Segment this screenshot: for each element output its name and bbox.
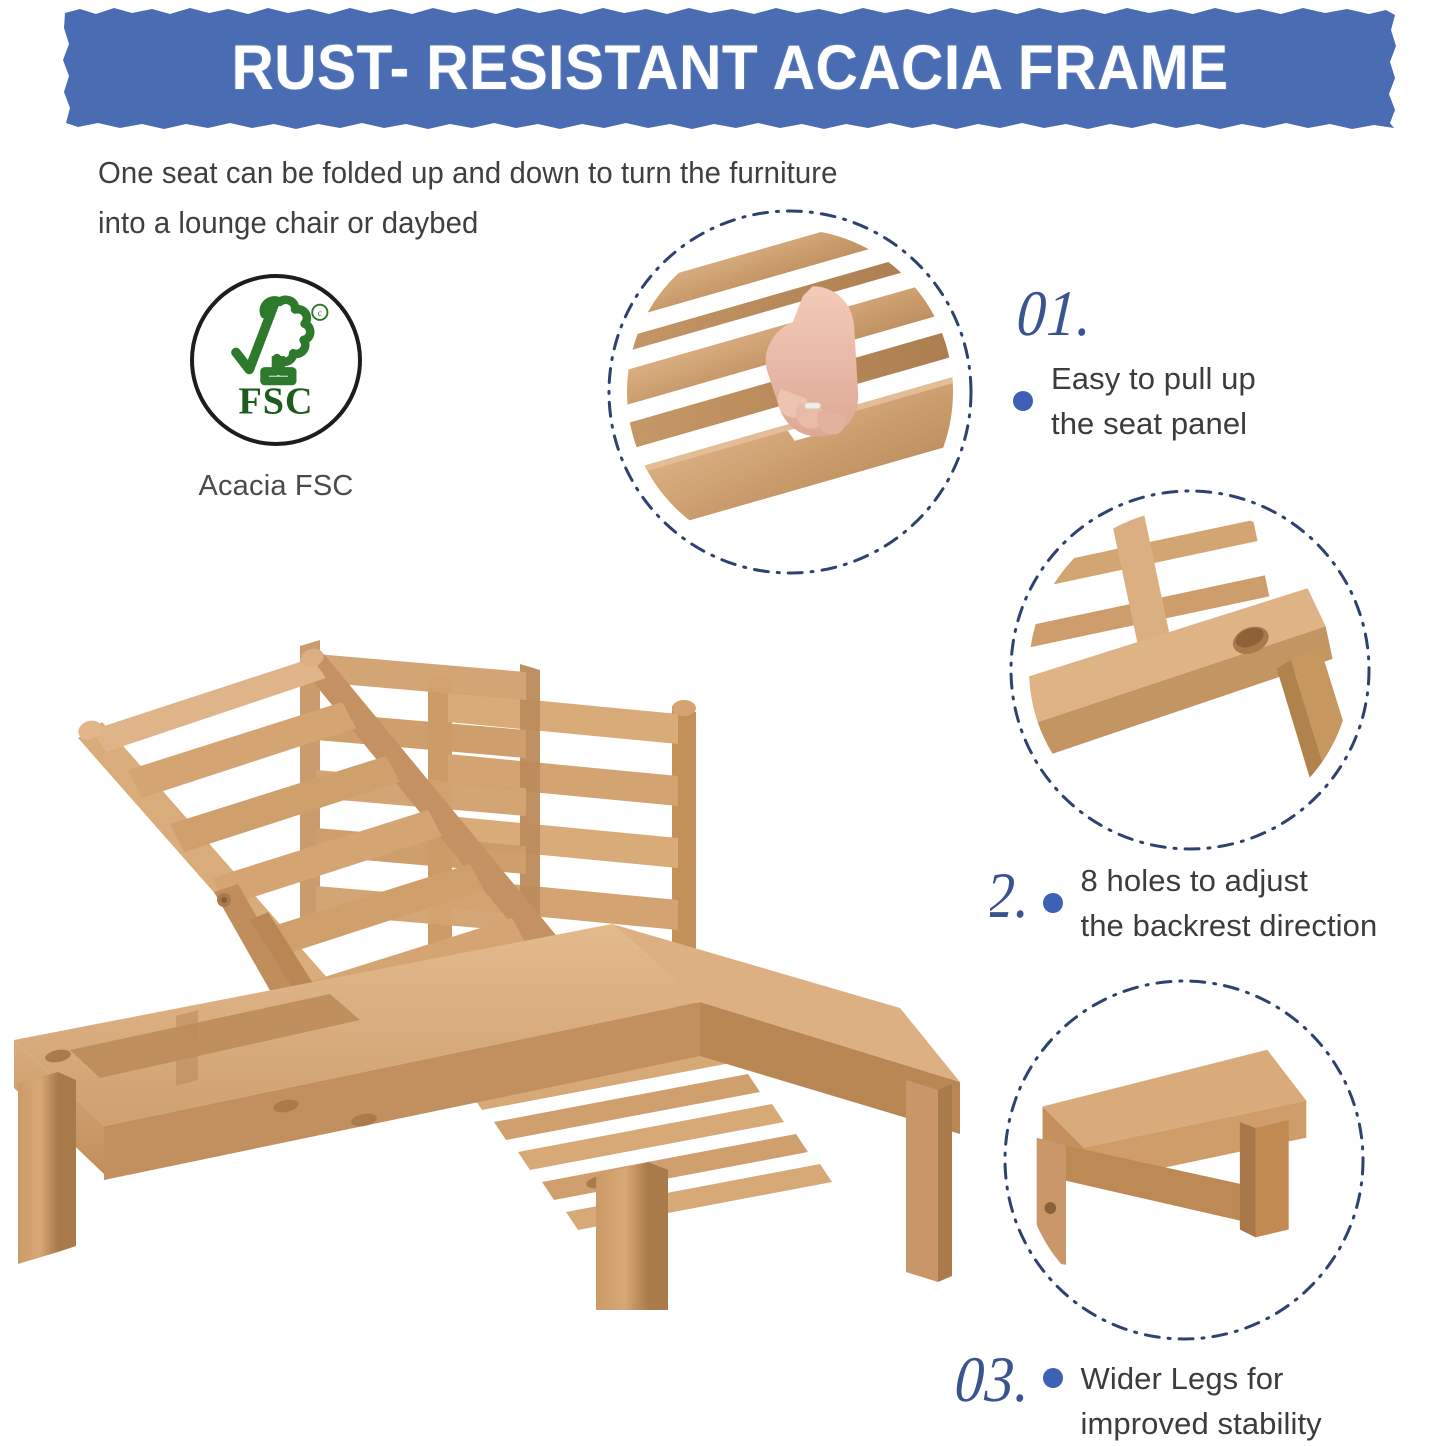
callout-1-line-2: the seat panel: [1051, 401, 1256, 446]
detail-photo-adjustment-hole: [1006, 486, 1374, 854]
bullet-dot-icon: [1043, 893, 1063, 913]
callout-1-line-1: Easy to pull up: [1051, 356, 1256, 401]
detail-photo-hand-pulling-seat-panel: [604, 206, 976, 578]
fsc-certification-badge: c FSC Acacia FSC: [166, 274, 386, 503]
bullet-dot-icon: [1043, 1368, 1063, 1388]
bullet-dot-icon: [1013, 391, 1033, 411]
fsc-tree-checkmark-icon: c FSC: [194, 278, 358, 442]
acacia-daybed-illustration: [0, 610, 990, 1310]
wide-leg-illustration: [1023, 999, 1345, 1321]
callout-2-line-2: the backrest direction: [1081, 903, 1378, 948]
fsc-logo-circle: c FSC: [190, 274, 362, 446]
product-photo-daybed: [0, 610, 990, 1310]
callout-3-line-1: Wider Legs for: [1081, 1356, 1322, 1401]
detail-photo-wide-leg: [1000, 976, 1368, 1344]
callout-2: 02. 8 holes to adjust the backrest direc…: [953, 858, 1377, 948]
slats-with-hand-illustration: [627, 229, 953, 555]
callout-2-text: 8 holes to adjust the backrest direction: [1081, 858, 1378, 948]
callout-1-number: 01.: [1015, 281, 1260, 346]
fsc-caption: Acacia FSC: [166, 470, 386, 503]
callout-1-text: Easy to pull up the seat panel: [1051, 356, 1256, 446]
photo-inner-3: [1023, 999, 1345, 1321]
callout-2-body: 8 holes to adjust the backrest direction: [1043, 858, 1378, 948]
header-banner: RUST- RESISTANT ACACIA FRAME: [62, 6, 1398, 130]
svg-text:FSC: FSC: [239, 380, 314, 422]
photo-inner-1: [627, 229, 953, 555]
page-title: RUST- RESISTANT ACACIA FRAME: [109, 6, 1351, 130]
photo-inner-2: [1029, 509, 1351, 831]
callout-1: 01. Easy to pull up the seat panel: [1013, 288, 1256, 446]
infographic-page: RUST- RESISTANT ACACIA FRAME One seat ca…: [0, 0, 1445, 1433]
callout-3-line-2: improved stability: [1081, 1401, 1322, 1446]
subtitle-line-1: One seat can be folded up and down to tu…: [98, 148, 1020, 198]
svg-text:c: c: [318, 309, 322, 319]
callout-3-number: 03.: [953, 1345, 1033, 1412]
callout-3: 03. Wider Legs for improved stability: [953, 1352, 1322, 1446]
callout-2-line-1: 8 holes to adjust: [1081, 858, 1378, 903]
callout-1-body: Easy to pull up the seat panel: [1013, 356, 1256, 446]
frame-corner-hole-illustration: [1029, 509, 1351, 831]
